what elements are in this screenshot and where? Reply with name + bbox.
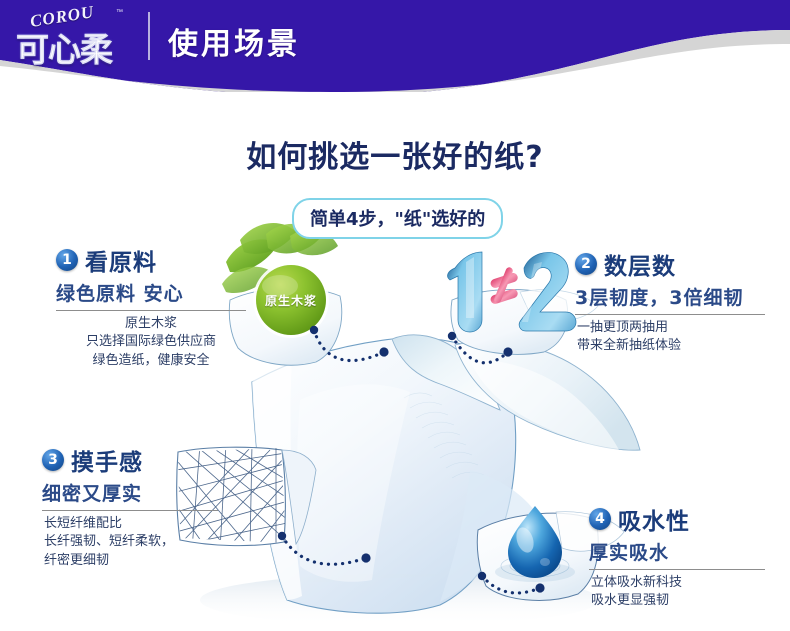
feature-4-desc-line: 立体吸水新科技 <box>591 574 765 592</box>
feature-2-divider <box>575 314 765 315</box>
feature-1-desc-line: 只选择国际绿色供应商 <box>56 333 246 351</box>
feature-2-description: 一抽更顶两抽用 带来全新抽纸体验 <box>575 319 775 356</box>
feature-1-desc-line: 原生木浆 <box>56 315 246 333</box>
feature-1-description: 原生木浆 只选择国际绿色供应商 绿色造纸，健康安全 <box>56 315 246 370</box>
feature-3-desc-line: 长短纤维配比 <box>44 515 218 533</box>
feature-3-description: 长短纤维配比 长纤强韧、短纤柔软， 纤密更细韧 <box>42 515 218 570</box>
infographic-page: COROU ™ 可心柔 使用场景 如何挑选一张好的纸? 简单4步，"纸"选好的 … <box>0 0 790 631</box>
feature-4-desc-line: 吸水更显强韧 <box>591 592 765 610</box>
feature-4-divider <box>589 569 765 570</box>
feature-1-number-badge: 1 <box>56 249 78 271</box>
feature-block-2: 2 数层数 3层韧度，3倍细韧 一抽更顶两抽用 带来全新抽纸体验 <box>575 247 775 356</box>
feature-3-subtitle: 细密又厚实 <box>42 479 218 506</box>
feature-block-3: 3 摸手感 细密又厚实 长短纤维配比 长纤强韧、短纤柔软， 纤密更细韧 <box>42 443 218 570</box>
feature-2-subtitle: 3层韧度，3倍细韧 <box>575 283 775 310</box>
feature-3-divider <box>42 510 218 511</box>
feature-3-desc-line: 长纤强韧、短纤柔软， <box>44 533 218 551</box>
feature-2-title: 数层数 <box>604 247 676 281</box>
feature-4-title: 吸水性 <box>618 502 690 536</box>
feature-2-heading: 2 数层数 <box>575 247 775 281</box>
feature-2-number-badge: 2 <box>575 253 597 275</box>
feature-1-desc-line: 绿色造纸，健康安全 <box>56 352 246 370</box>
feature-4-number-badge: 4 <box>589 508 611 530</box>
feature-1-title: 看原料 <box>85 243 157 277</box>
feature-4-heading: 4 吸水性 <box>589 502 765 536</box>
feature-3-title: 摸手感 <box>71 443 143 477</box>
feature-4-subtitle: 厚实吸水 <box>589 538 765 565</box>
green-badge-label: 原生木浆 <box>253 292 329 309</box>
feature-block-4: 4 吸水性 厚实吸水 立体吸水新科技 吸水更显强韧 <box>589 502 765 611</box>
feature-block-1: 1 看原料 绿色原料 安心 原生木浆 只选择国际绿色供应商 绿色造纸，健康安全 <box>56 243 246 370</box>
feature-4-description: 立体吸水新科技 吸水更显强韧 <box>589 574 765 611</box>
feature-1-subtitle: 绿色原料 安心 <box>56 279 246 306</box>
feature-3-heading: 3 摸手感 <box>42 443 218 477</box>
feature-2-desc-line: 带来全新抽纸体验 <box>577 337 775 355</box>
feature-3-desc-line: 纤密更细韧 <box>44 552 218 570</box>
feature-1-heading: 1 看原料 <box>56 243 246 277</box>
feature-2-desc-line: 一抽更顶两抽用 <box>577 319 775 337</box>
subtitle-badge: 简单4步，"纸"选好的 <box>292 198 503 239</box>
feature-3-number-badge: 3 <box>42 449 64 471</box>
feature-1-divider <box>56 310 246 311</box>
